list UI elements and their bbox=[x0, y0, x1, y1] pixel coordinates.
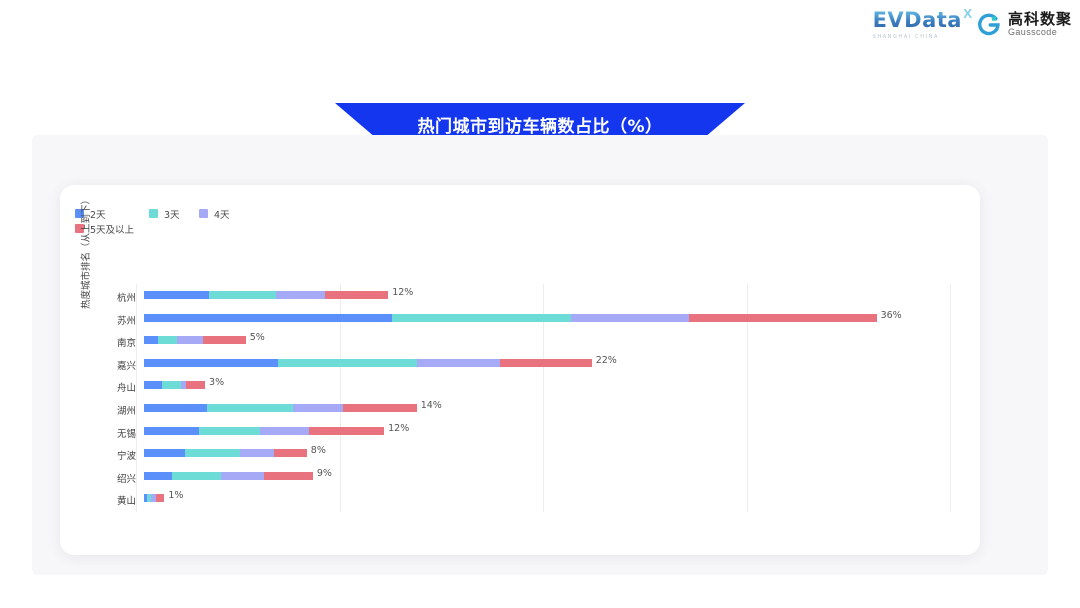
legend-item-3days[interactable]: 3天 bbox=[149, 206, 199, 221]
legend-swatch-4days bbox=[199, 209, 208, 218]
legend-swatch-5days-plus bbox=[75, 224, 84, 233]
evdata-x-icon: X bbox=[963, 6, 972, 21]
legend-item-4days[interactable]: 4天 bbox=[199, 206, 319, 221]
gausscode-chinese-name: 高科数聚 bbox=[1008, 12, 1072, 28]
legend-item-2days[interactable]: 2天 bbox=[75, 206, 149, 221]
slide-root: EVData X SHANGHAI CHINA 高科数聚 Gausscode 热… bbox=[0, 0, 1080, 608]
legend-label-2days: 2天 bbox=[90, 207, 106, 221]
legend-swatch-2days bbox=[75, 209, 84, 218]
gausscode-english-name: Gausscode bbox=[1008, 28, 1072, 37]
legend-item-5days-plus[interactable]: 5天及以上 bbox=[75, 221, 275, 236]
chart-legend: 2天 3天 4天 5天及以上 bbox=[75, 206, 495, 236]
evdata-logo: EVData X SHANGHAI CHINA bbox=[873, 10, 962, 40]
chart-card bbox=[60, 185, 980, 555]
evdata-tagline: SHANGHAI CHINA bbox=[873, 34, 940, 40]
gausscode-logo-icon bbox=[976, 12, 1002, 38]
legend-label-3days: 3天 bbox=[164, 207, 180, 221]
legend-label-4days: 4天 bbox=[214, 207, 230, 221]
evdata-wordmark: EVData bbox=[873, 8, 962, 32]
legend-swatch-3days bbox=[149, 209, 158, 218]
brand-logo-bar: EVData X SHANGHAI CHINA 高科数聚 Gausscode bbox=[873, 10, 1072, 40]
legend-label-5days-plus: 5天及以上 bbox=[90, 222, 134, 236]
gausscode-logo: 高科数聚 Gausscode bbox=[976, 12, 1072, 38]
page-title: 热门城市到访车辆数占比（%） bbox=[417, 112, 662, 137]
